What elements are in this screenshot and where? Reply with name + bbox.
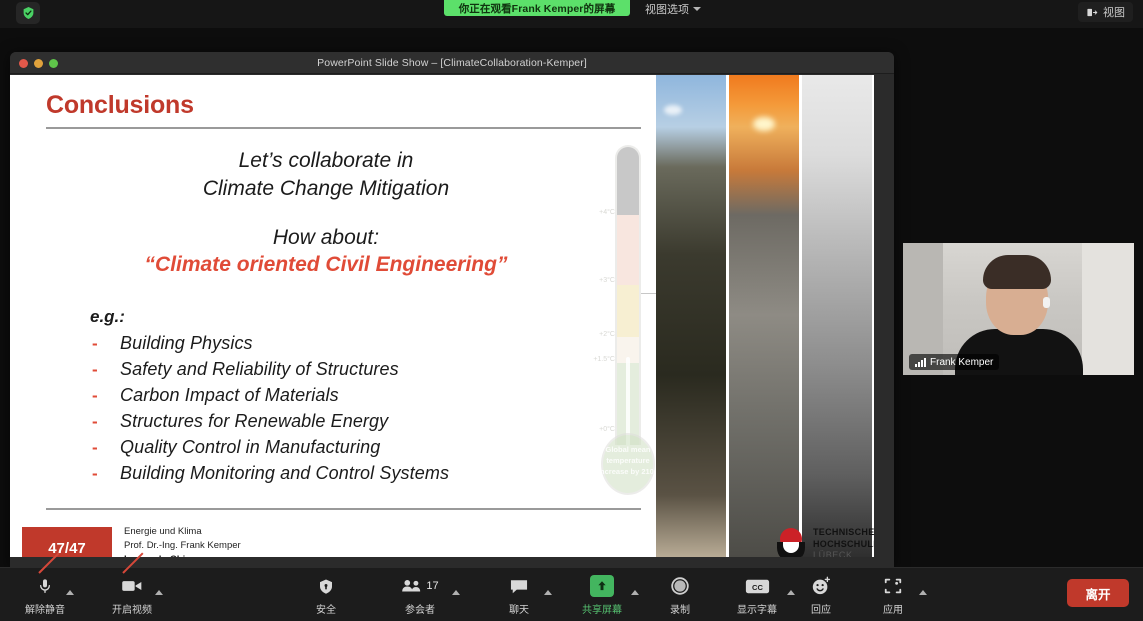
toolbar-label: 应用 xyxy=(883,601,903,616)
close-window-button[interactable] xyxy=(19,59,28,68)
signal-bars-icon xyxy=(915,358,926,367)
toolbar-item-participants[interactable]: 17 参会者 xyxy=(383,574,457,616)
university-logo: TECHNISCHE HOCHSCHULE LÜBECK xyxy=(776,527,874,557)
chevron-up-icon[interactable] xyxy=(452,590,460,595)
footer-divider xyxy=(46,508,641,510)
toolbar-label: 录制 xyxy=(670,601,690,616)
thermometer-tick-0c: +0°C xyxy=(581,426,615,433)
toolbar-item-apps[interactable]: 应用 xyxy=(856,574,930,616)
participant-name: Frank Kemper xyxy=(930,357,993,368)
eg-label: e.g.: xyxy=(90,307,125,327)
logo-line-2: HOCHSCHULE xyxy=(813,539,874,551)
toolbar-item-unmute[interactable]: 解除静音 xyxy=(8,574,82,616)
thermometer-tick-4c: +4°C xyxy=(581,209,615,216)
bullet-marker: - xyxy=(92,386,120,406)
toolbar-label: 安全 xyxy=(316,601,336,616)
view-button-label: 视图 xyxy=(1103,4,1125,20)
microphone-muted-icon xyxy=(37,574,53,598)
shield-icon xyxy=(318,574,334,598)
list-item: - Quality Control in Manufacturing xyxy=(92,437,592,463)
toolbar-item-reactions[interactable]: 回应 xyxy=(784,574,858,616)
toolbar-label: 解除静音 xyxy=(25,601,65,616)
minimize-window-button[interactable] xyxy=(34,59,43,68)
meeting-toolbar: 解除静音 开启视频 安全 xyxy=(0,567,1143,621)
footer-line-2: Prof. Dr.-Ing. Frank Kemper xyxy=(124,539,241,553)
camera-off-icon xyxy=(121,574,143,598)
bullet-text: Quality Control in Manufacturing xyxy=(120,437,380,458)
zoom-window-button[interactable] xyxy=(49,59,58,68)
svg-text:CC: CC xyxy=(752,583,763,592)
chevron-up-icon[interactable] xyxy=(631,590,639,595)
lead-line-1: Let’s collaborate in xyxy=(46,147,606,175)
footer-line-1: Energie und Klima xyxy=(124,525,241,539)
toolbar-item-record[interactable]: 录制 xyxy=(643,574,717,616)
slide-bullet-list: - Building Physics - Safety and Reliabil… xyxy=(92,333,592,489)
bullet-marker: - xyxy=(92,412,120,432)
logo-line-1: TECHNISCHE xyxy=(813,527,874,539)
slide-lead-block: Let’s collaborate in Climate Change Miti… xyxy=(46,147,606,277)
chevron-up-icon[interactable] xyxy=(919,590,927,595)
panel-layout-icon xyxy=(1086,7,1098,18)
closed-caption-icon: CC xyxy=(745,574,770,598)
slide-page-number: 47/47 xyxy=(22,527,112,557)
security-shield-icon[interactable] xyxy=(16,2,40,24)
toolbar-item-chat[interactable]: 聊天 xyxy=(482,574,556,616)
bullet-text: Building Monitoring and Control Systems xyxy=(120,463,449,484)
top-bar: 你正在观看Frank Kemper的屏幕 视图选项 视图 xyxy=(0,0,1143,28)
logo-line-3: LÜBECK xyxy=(813,550,874,557)
toolbar-label: 开启视频 xyxy=(112,601,152,616)
list-item: - Building Physics xyxy=(92,333,592,359)
mountain-forest-photo xyxy=(656,75,726,557)
university-logo-text: TECHNISCHE HOCHSCHULE LÜBECK xyxy=(813,527,874,557)
list-item: - Safety and Reliability of Structures xyxy=(92,359,592,385)
thermometer-tick-1-5c: +1.5°C xyxy=(581,356,615,363)
title-divider xyxy=(46,127,641,129)
photo-strip xyxy=(656,75,874,557)
bullet-text: Structures for Renewable Energy xyxy=(120,411,388,432)
toolbar-label: 回应 xyxy=(811,601,831,616)
toolbar-label: 参会者 xyxy=(405,601,435,616)
view-button[interactable]: 视图 xyxy=(1078,2,1133,22)
lead-line-2: Climate Change Mitigation xyxy=(46,175,606,203)
bullet-marker: - xyxy=(92,360,120,380)
share-screen-icon xyxy=(590,574,614,598)
zoom-meeting-window: 你正在观看Frank Kemper的屏幕 视图选项 视图 PowerPoint … xyxy=(0,0,1143,621)
participants-icon: 17 xyxy=(401,574,438,598)
presentation-slide: Conclusions Let’s collaborate in Climate… xyxy=(10,75,874,557)
thermometer-graphic: +4°C +3°C +2°C +1.5°C +0°C Global mean t… xyxy=(593,145,655,505)
chevron-up-icon[interactable] xyxy=(66,590,74,595)
list-item: - Building Monitoring and Control System… xyxy=(92,463,592,489)
bullet-text: Safety and Reliability of Structures xyxy=(120,359,399,380)
bullet-marker: - xyxy=(92,438,120,458)
bullet-marker: - xyxy=(92,334,120,354)
toolbar-label: 共享屏幕 xyxy=(582,601,622,616)
powerpoint-title-bar: PowerPoint Slide Show – [ClimateCollabor… xyxy=(10,52,894,74)
toolbar-item-captions[interactable]: CC 显示字幕 xyxy=(720,574,794,616)
thermometer-tick-2c: +2°C xyxy=(581,331,615,338)
chevron-up-icon[interactable] xyxy=(155,590,163,595)
bullet-marker: - xyxy=(92,464,120,484)
chevron-up-icon[interactable] xyxy=(544,590,552,595)
how-about-line: How about: xyxy=(46,226,606,250)
screen-share-banner: 你正在观看Frank Kemper的屏幕 xyxy=(444,0,630,16)
participant-name-label: Frank Kemper xyxy=(909,354,999,370)
sunset-city-photo xyxy=(729,75,799,557)
th-luebeck-logo-icon xyxy=(776,528,806,557)
list-item: - Carbon Impact of Materials xyxy=(92,385,592,411)
view-options-label: 视图选项 xyxy=(645,1,689,17)
window-traffic-lights[interactable] xyxy=(19,59,58,68)
smoke-fire-photo xyxy=(802,75,872,557)
chat-bubble-icon xyxy=(509,574,529,598)
thermometer-tick-3c: +3°C xyxy=(581,277,615,284)
bullet-text: Building Physics xyxy=(120,333,253,354)
participant-video-tile[interactable]: Frank Kemper xyxy=(903,243,1134,375)
list-item: - Structures for Renewable Energy xyxy=(92,411,592,437)
toolbar-item-share-screen[interactable]: 共享屏幕 xyxy=(565,574,639,616)
thermometer-caption: Global mean temperature increase by 2100 xyxy=(597,445,659,478)
powerpoint-window-title: PowerPoint Slide Show – [ClimateCollabor… xyxy=(317,57,587,69)
slide-quote: “Climate oriented Civil Engineering” xyxy=(46,253,606,277)
record-circle-icon xyxy=(670,574,690,598)
view-options-dropdown[interactable]: 视图选项 xyxy=(640,0,706,18)
apps-icon xyxy=(883,574,903,598)
bullet-text: Carbon Impact of Materials xyxy=(120,385,339,406)
toolbar-label: 显示字幕 xyxy=(737,601,777,616)
slide-title: Conclusions xyxy=(46,91,194,120)
toolbar-item-start-video[interactable]: 开启视频 xyxy=(95,574,169,616)
chevron-down-icon xyxy=(693,7,701,11)
reactions-smiley-icon xyxy=(811,574,831,598)
toolbar-item-security[interactable]: 安全 xyxy=(289,574,363,616)
leave-meeting-button[interactable]: 离开 xyxy=(1067,579,1129,607)
participants-count: 17 xyxy=(426,580,438,592)
toolbar-label: 聊天 xyxy=(509,601,529,616)
